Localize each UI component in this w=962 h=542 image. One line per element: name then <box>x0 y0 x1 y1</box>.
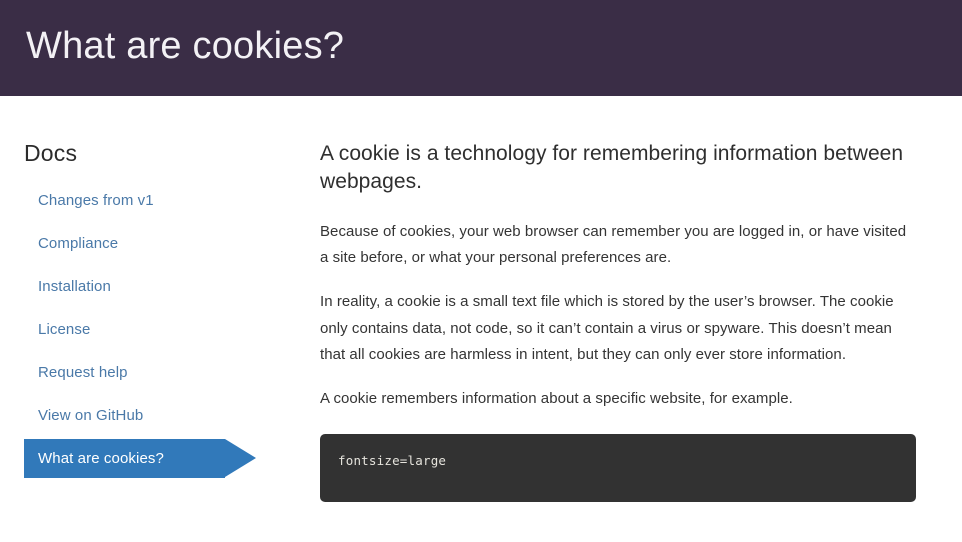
sidebar-item-license[interactable]: License <box>0 310 320 349</box>
sidebar-nav-list: Changes from v1 Compliance Installation … <box>0 181 320 478</box>
sidebar-item-what-are-cookies[interactable]: What are cookies? <box>24 439 225 478</box>
sidebar-link-label[interactable]: Installation <box>0 278 111 295</box>
sidebar-item-view-on-github[interactable]: View on GitHub <box>0 396 320 435</box>
site-header: What are cookies? <box>0 0 962 96</box>
body-paragraph-1: Because of cookies, your web browser can… <box>320 219 916 272</box>
main-content: A cookie is a technology for remembering… <box>320 96 940 515</box>
page-title: What are cookies? <box>26 27 344 69</box>
code-block: fontsize=large <box>320 434 916 502</box>
page-body: Docs Changes from v1 Compliance Installa… <box>0 96 962 515</box>
sidebar-link-label[interactable]: License <box>0 321 90 338</box>
sidebar-link-label[interactable]: Changes from v1 <box>0 192 154 209</box>
sidebar-heading: Docs <box>24 140 320 167</box>
sidebar-link-label[interactable]: View on GitHub <box>0 407 143 424</box>
lead-paragraph: A cookie is a technology for remembering… <box>320 140 916 197</box>
sidebar-link-label[interactable]: Request help <box>0 364 128 381</box>
sidebar-item-installation[interactable]: Installation <box>0 267 320 306</box>
sidebar-item-request-help[interactable]: Request help <box>0 353 320 392</box>
sidebar-link-label[interactable]: What are cookies? <box>24 450 164 467</box>
sidebar-link-label[interactable]: Compliance <box>0 235 118 252</box>
code-block-text: fontsize=large <box>338 453 446 468</box>
body-paragraph-3: A cookie remembers information about a s… <box>320 386 916 413</box>
body-paragraph-2: In reality, a cookie is a small text fil… <box>320 289 916 369</box>
sidebar: Docs Changes from v1 Compliance Installa… <box>0 96 320 482</box>
sidebar-item-changes-from-v1[interactable]: Changes from v1 <box>0 181 320 220</box>
sidebar-item-compliance[interactable]: Compliance <box>0 224 320 263</box>
